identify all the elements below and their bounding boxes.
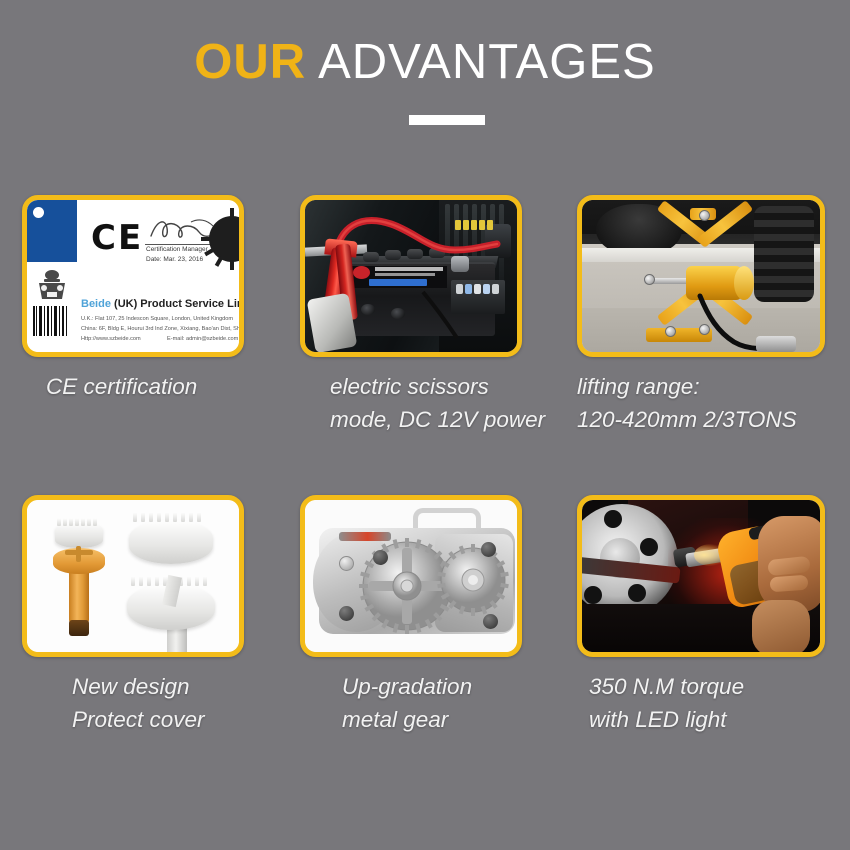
company-name-rest: (UK) Product Service Limited (111, 298, 239, 310)
card-frame: CE Certification Manager Date: Mar. 23, … (22, 195, 244, 357)
advantages-grid: CE Certification Manager Date: Mar. 23, … (0, 195, 850, 795)
advantage-card-metal-gear[interactable]: Up-gradation metal gear (300, 495, 570, 736)
page-title: OUR ADVANTAGES (0, 36, 850, 90)
card-caption: lifting range: 120-420mm 2/3TONS (577, 371, 847, 436)
advantage-card-torque-led[interactable]: 350 N.M torque with LED light (577, 495, 847, 736)
card-frame (300, 495, 522, 657)
advantages-row-1: CE Certification Manager Date: Mar. 23, … (0, 195, 850, 495)
card-caption: New design Protect cover (72, 671, 292, 736)
gear-wheels-icon (305, 500, 517, 652)
page-title-rest: ADVANTAGES (306, 35, 656, 89)
card-frame (577, 495, 825, 657)
card-caption: CE certification (46, 371, 292, 404)
card-frame (300, 195, 522, 357)
address-uk: U.K.: Flat 107, 25 Indescon Square, Lond… (81, 316, 233, 322)
seal-gear-icon (199, 206, 239, 272)
email-text: E-mail: admin@szbeide.com (167, 336, 238, 342)
power-wire-icon (582, 200, 820, 352)
impact-wrench-on-wheel-image (582, 500, 820, 652)
address-cn: China: 6F, Bldg E, Hourui 3rd Ind Zone, … (81, 326, 239, 332)
card-caption: 350 N.M torque with LED light (589, 671, 847, 736)
metal-gearbox-image (305, 500, 517, 652)
plastic-protect-covers-image (27, 500, 239, 652)
ce-certificate-image: CE Certification Manager Date: Mar. 23, … (27, 200, 239, 352)
eu-flag-block (27, 200, 77, 262)
card-caption: electric scissors mode, DC 12V power (330, 371, 570, 436)
title-underline-bar (409, 115, 485, 125)
page-title-highlight: OUR (194, 35, 306, 89)
certificate-date: Date: Mar. 23, 2016 (146, 256, 203, 263)
card-frame (22, 495, 244, 657)
scissor-jack-under-car-image (582, 200, 820, 352)
advantages-page: OUR ADVANTAGES CE (0, 0, 850, 850)
car-battery-jumper-clamps-image (305, 200, 517, 352)
advantage-card-lifting-range[interactable]: lifting range: 120-420mm 2/3TONS (577, 195, 847, 436)
company-brand: Beide (81, 298, 111, 310)
advantage-card-ce-certification[interactable]: CE Certification Manager Date: Mar. 23, … (22, 195, 292, 404)
ce-mark-label: CE (91, 218, 143, 258)
website-text: Http://www.szbeide.com (81, 336, 141, 342)
page-header: OUR ADVANTAGES (0, 36, 850, 90)
card-caption: Up-gradation metal gear (342, 671, 570, 736)
royal-crest-icon (35, 266, 69, 304)
card-frame (577, 195, 825, 357)
company-name: Beide (UK) Product Service Limited (81, 298, 239, 310)
advantage-card-electric-scissors[interactable]: electric scissors mode, DC 12V power (300, 195, 570, 436)
barcode-icon (33, 306, 69, 342)
advantage-card-protect-cover[interactable]: New design Protect cover (22, 495, 292, 736)
advantages-row-2: New design Protect cover (0, 495, 850, 795)
